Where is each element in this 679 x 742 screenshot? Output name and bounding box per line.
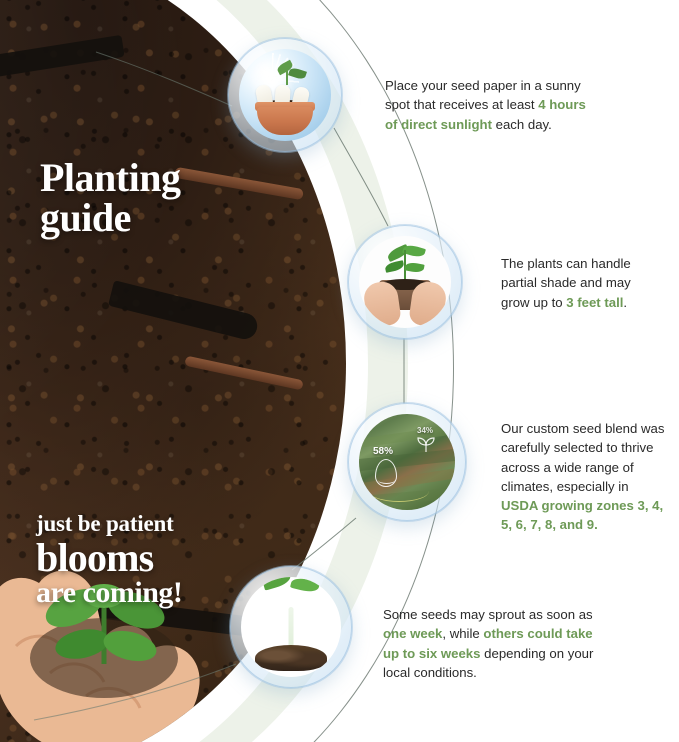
aerial-farmland-photo: 58% 34% xyxy=(359,414,455,510)
sprout-in-soil-photo xyxy=(241,577,341,677)
moisture-percent-label: 58% xyxy=(373,446,393,457)
step-text-lead: Our custom seed blend was carefully sele… xyxy=(501,421,664,494)
step-text-lead: Some seeds may sprout as soon as xyxy=(383,607,593,622)
step-text-shade-height: The plants can handle partial shade and … xyxy=(501,254,661,312)
step-text-tail: each day. xyxy=(492,117,552,132)
growth-percent-label: 34% xyxy=(417,426,433,435)
step-text-tail: . xyxy=(623,295,627,310)
field-strip xyxy=(359,425,455,447)
terracotta-pot-icon xyxy=(257,107,313,135)
hands-holding-pot-photo xyxy=(359,236,451,328)
tagline-small: just be patient xyxy=(36,512,182,536)
tagline-block: just be patient blooms are coming! xyxy=(36,512,182,608)
soil-mound xyxy=(255,645,327,671)
step-text-sunlight: Place your seed paper in a sunny spot th… xyxy=(385,76,600,134)
step-icon-seed-paper-pot xyxy=(228,38,342,152)
step-text-usda-zones: Our custom seed blend was carefully sele… xyxy=(501,419,669,535)
cotyledon-leaf-icon xyxy=(290,577,320,594)
sprout-icon xyxy=(415,436,437,452)
step-text-mid: , while xyxy=(442,626,483,641)
step-text-highlight: one week xyxy=(383,626,442,641)
seed-paper-pot-photo xyxy=(239,49,331,141)
title-line-1: Planting xyxy=(40,155,180,200)
leaf-icon xyxy=(404,261,424,273)
step-text-germination-time: Some seeds may sprout as soon as one wee… xyxy=(383,605,595,682)
cotyledon-leaf-icon xyxy=(262,577,292,591)
step-icon-hands-holding-pot xyxy=(348,225,462,339)
step-text-highlight: USDA growing zones 3, 4, 5, 6, 7, 8, and… xyxy=(501,498,663,532)
step-text-highlight: 3 feet tall xyxy=(566,295,623,310)
tagline-big: blooms xyxy=(36,538,182,578)
data-arc-line xyxy=(369,480,429,502)
title-line-2: guide xyxy=(40,198,180,238)
planting-guide-infographic: Planting guide just be patient blooms ar… xyxy=(0,0,679,742)
step-icon-aerial-farmland: 58% 34% xyxy=(348,403,466,521)
leaf-icon xyxy=(384,260,404,273)
step-icon-sprout-in-soil xyxy=(230,566,352,688)
page-title: Planting guide xyxy=(40,158,180,237)
stem-icon xyxy=(286,69,288,85)
tagline-mid: are coming! xyxy=(36,578,182,608)
